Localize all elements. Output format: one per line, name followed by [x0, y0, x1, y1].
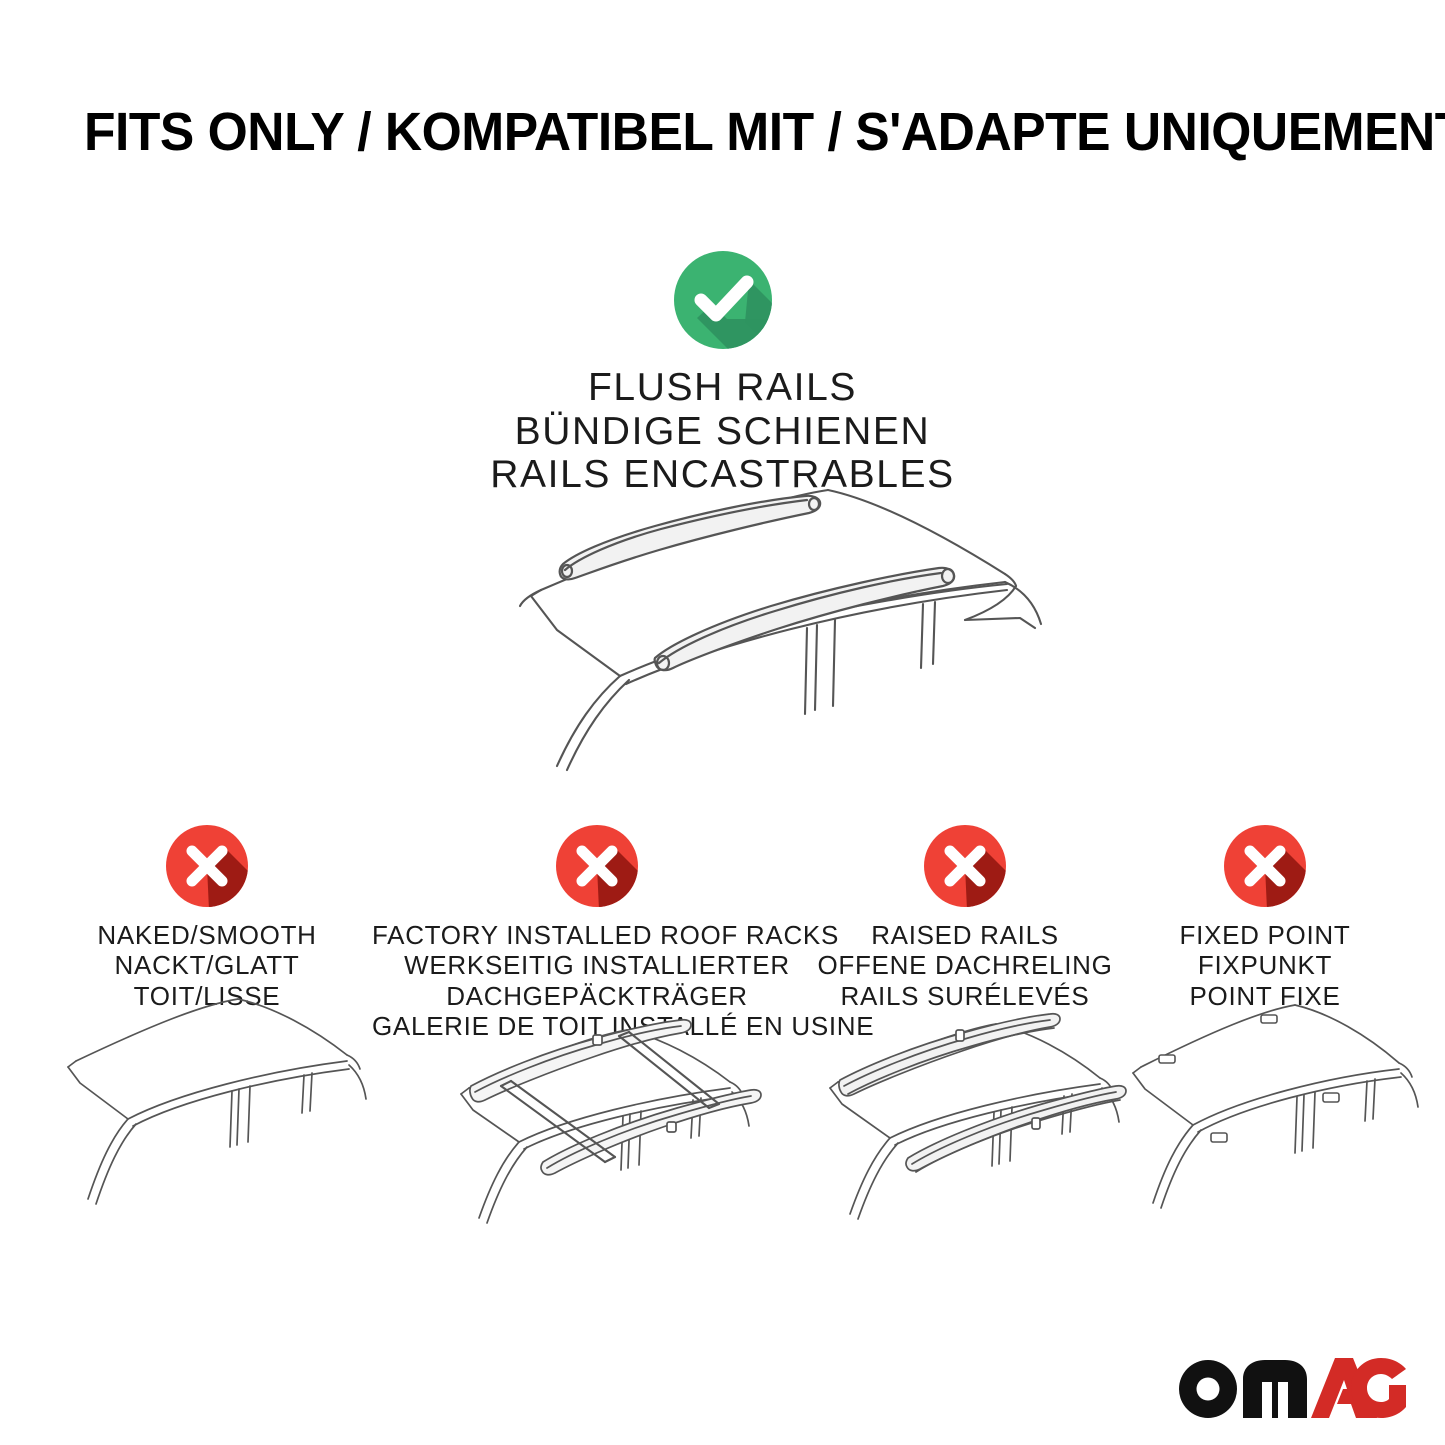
check-circle-icon: [671, 248, 775, 352]
label-de-1: WERKSEITIG INSTALLIERTER: [372, 950, 822, 980]
label-de: NACKT/GLATT: [47, 950, 367, 980]
page-title: FITS ONLY / KOMPATIBEL MIT / S'ADAPTE UN…: [84, 104, 1306, 161]
incompatible-column-fixed-point: FIXED POINT FIXPUNKT POINT FIXE: [1125, 822, 1405, 1011]
car-roof-naked-smooth-illustration: [42, 987, 372, 1217]
label-en: RAISED RAILS: [805, 920, 1125, 950]
compatible-label-de: BÜNDIGE SCHIENEN: [0, 410, 1445, 454]
label-en: FIXED POINT: [1125, 920, 1405, 950]
compatible-label-en: FLUSH RAILS: [0, 366, 1445, 410]
incompatible-column-factory-roof-racks: FACTORY INSTALLED ROOF RACKS WERKSEITIG …: [372, 822, 822, 1042]
label-en: FACTORY INSTALLED ROOF RACKS: [372, 920, 822, 950]
incompatible-column-naked-smooth: NAKED/SMOOTH NACKT/GLATT TOIT/LISSE: [47, 822, 367, 1011]
label-de: FIXPUNKT: [1125, 950, 1405, 980]
x-circle-icon: [553, 822, 641, 910]
incompatible-column-raised-rails: RAISED RAILS OFFENE DACHRELING RAILS SUR…: [805, 822, 1125, 1011]
car-roof-with-flush-rails-illustration: [445, 478, 1065, 778]
car-roof-fixed-point-illustration: [1105, 987, 1425, 1215]
label-en: NAKED/SMOOTH: [47, 920, 367, 950]
car-roof-raised-rails-illustration: [800, 990, 1130, 1222]
x-circle-icon: [1221, 822, 1309, 910]
car-roof-factory-roof-racks-illustration: [427, 990, 767, 1225]
incompatible-section: NAKED/SMOOTH NACKT/GLATT TOIT/LISSE: [0, 822, 1445, 1302]
omac-logo: [1175, 1349, 1407, 1423]
label-de: OFFENE DACHRELING: [805, 950, 1125, 980]
compatible-section: FLUSH RAILS BÜNDIGE SCHIENEN RAILS ENCAS…: [0, 248, 1445, 497]
logo-letter-o: [1179, 1360, 1237, 1418]
x-circle-icon: [163, 822, 251, 910]
logo-letter-m: [1243, 1360, 1307, 1418]
x-circle-icon: [921, 822, 1009, 910]
